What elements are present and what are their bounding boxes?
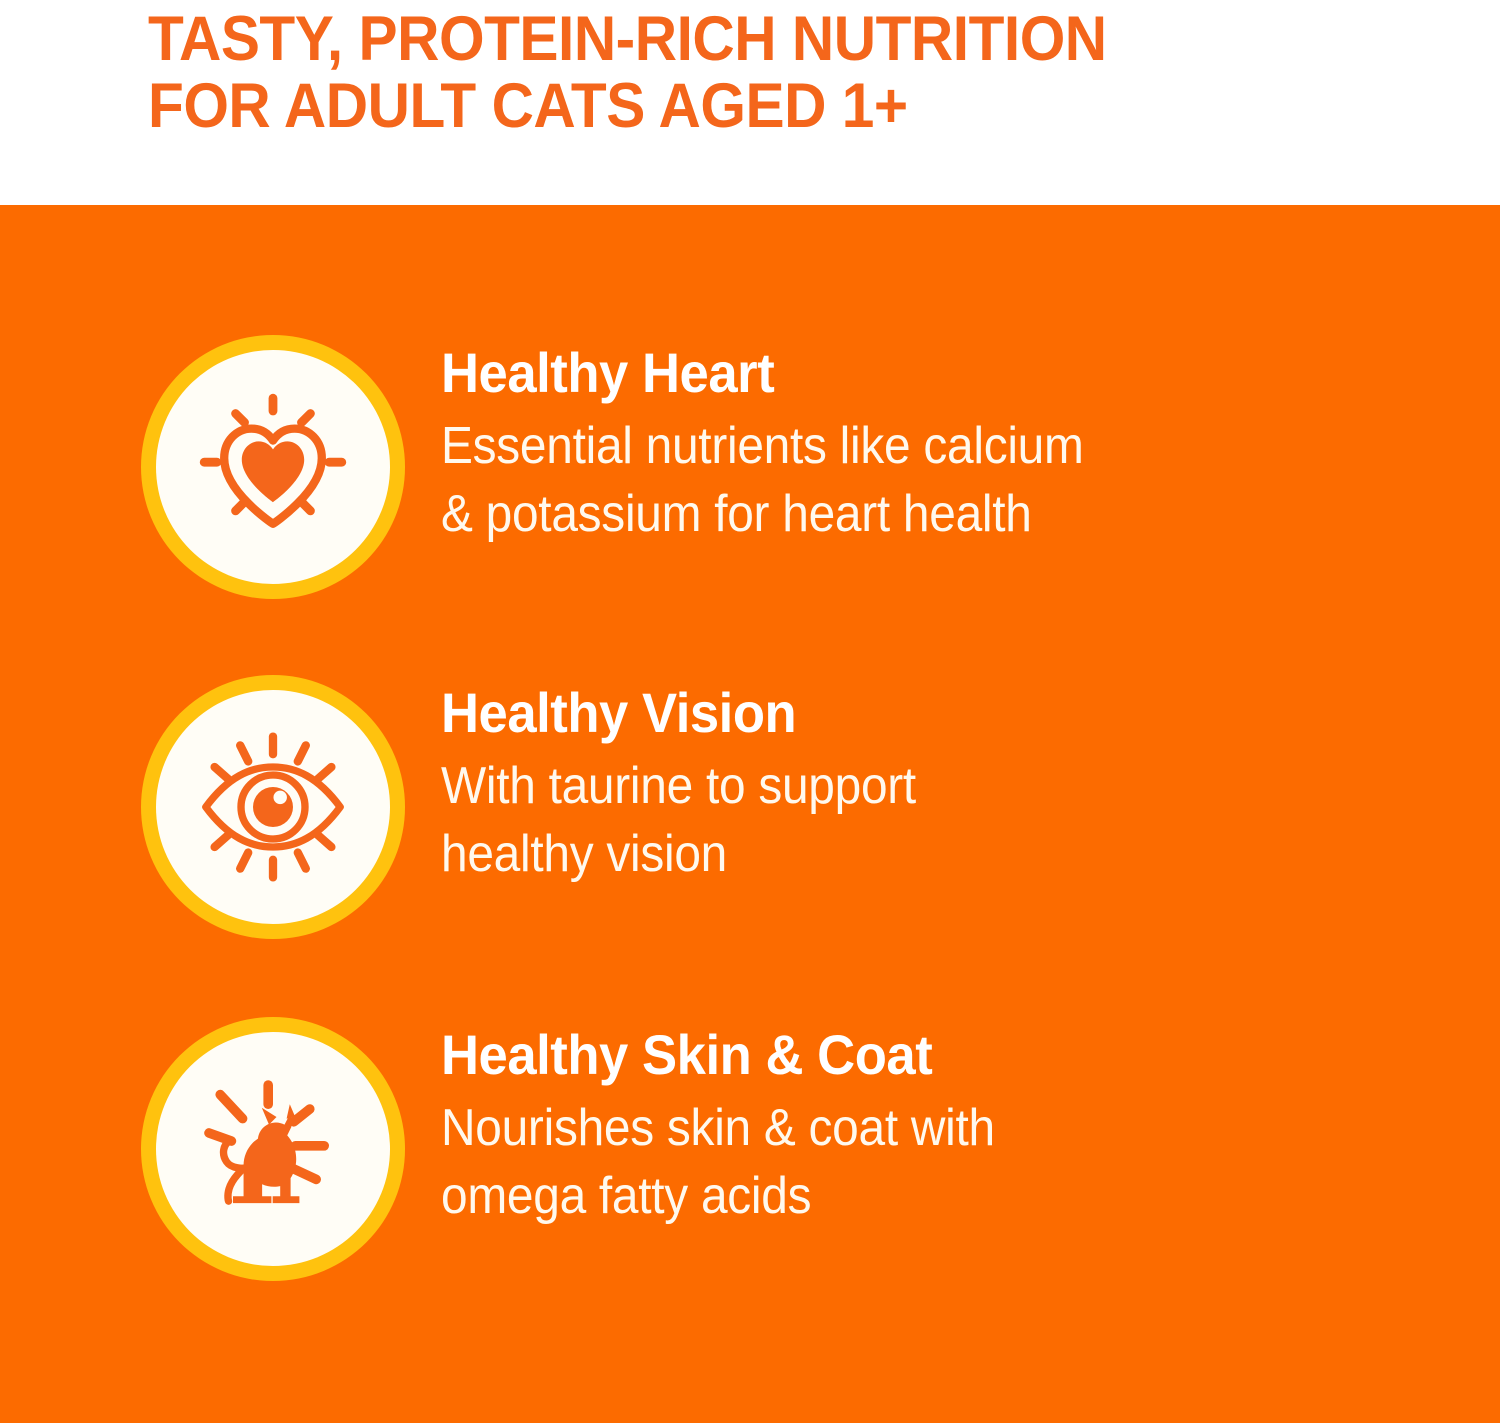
benefit-description: Nourishes skin & coat with omega fatty a… — [441, 1095, 1306, 1230]
header-band: TASTY, PROTEIN-RICH NUTRITION FOR ADULT … — [0, 0, 1500, 205]
benefit-item-healthy-heart: Healthy Heart Essential nutrients like c… — [0, 335, 1500, 599]
benefit-title: Healthy Vision — [441, 685, 1325, 741]
radiant-eye-icon — [141, 675, 405, 939]
benefit-text-block: Healthy Vision With taurine to support h… — [441, 675, 1381, 888]
radiant-cat-icon — [141, 1017, 405, 1281]
benefit-title: Healthy Skin & Coat — [441, 1027, 1325, 1083]
benefit-item-healthy-skin-and-coat: Healthy Skin & Coat Nourishes skin & coa… — [0, 1017, 1500, 1281]
benefit-description: With taurine to support healthy vision — [441, 753, 1306, 888]
benefit-text-block: Healthy Heart Essential nutrients like c… — [441, 335, 1381, 548]
benefits-panel: Healthy Heart Essential nutrients like c… — [0, 205, 1500, 1423]
benefit-text-block: Healthy Skin & Coat Nourishes skin & coa… — [441, 1017, 1381, 1230]
benefit-description: Essential nutrients like calcium & potas… — [441, 413, 1306, 548]
product-benefits-poster: TASTY, PROTEIN-RICH NUTRITION FOR ADULT … — [0, 0, 1500, 1423]
page-title: TASTY, PROTEIN-RICH NUTRITION FOR ADULT … — [148, 6, 1329, 141]
benefit-title: Healthy Heart — [441, 345, 1325, 401]
benefit-item-healthy-vision: Healthy Vision With taurine to support h… — [0, 675, 1500, 939]
radiant-heart-icon — [141, 335, 405, 599]
